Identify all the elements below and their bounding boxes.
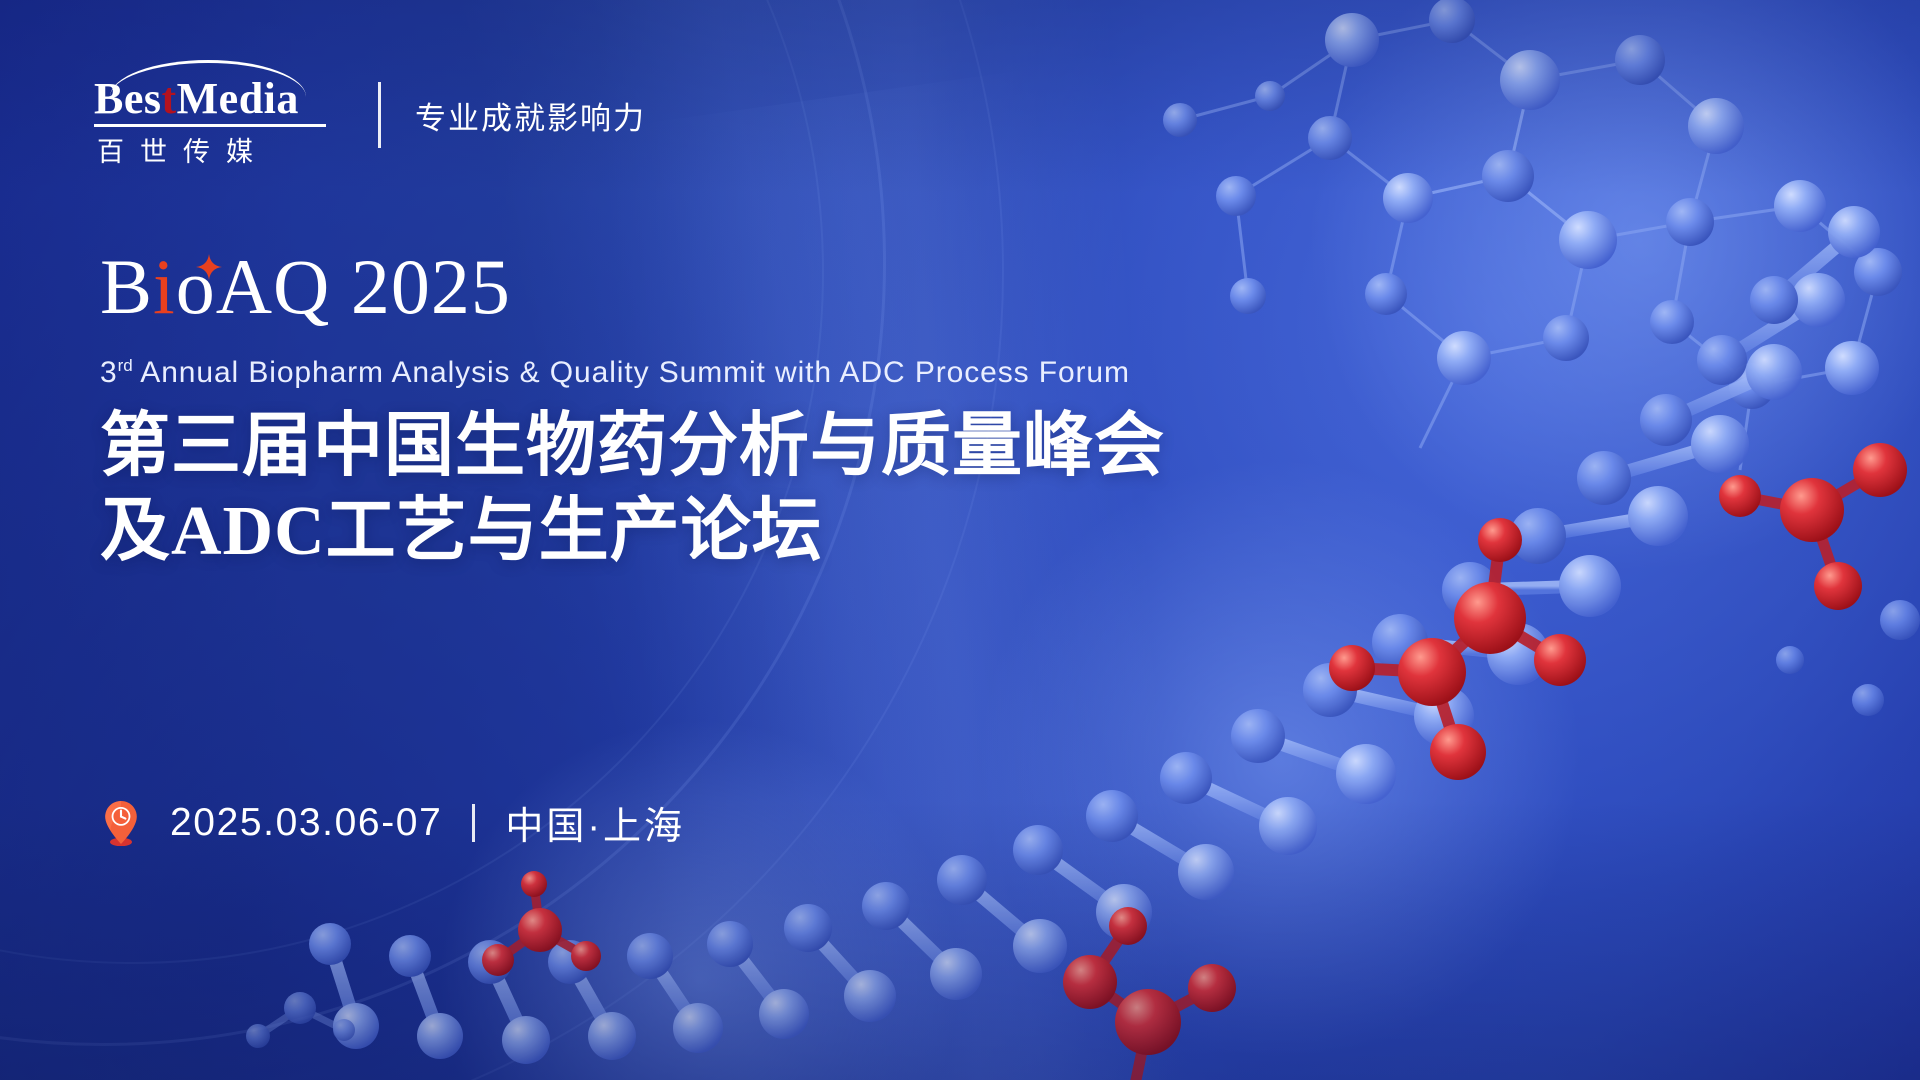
tv-tower-icon: t [162,76,177,122]
event-title-cn: 第三届中国生物药分析与质量峰会 及ADC工艺与生产论坛 [100,404,1165,575]
event-title-cn-line1: 第三届中国生物药分析与质量峰会 [100,404,1165,489]
event-date: 2025.03.06-07 [170,801,442,845]
brand-letter-b: B [100,243,153,330]
subtitle-ordinal-number: 3 [100,356,118,389]
brand-logo: BestMedia 百世传媒 专业成就影响力 [94,62,646,169]
event-location: 中国·上海 [505,795,685,850]
meta-divider [472,804,475,842]
event-meta: 2025.03.06-07 中国·上海 [104,795,685,850]
event-title-cn-line2: 及ADC工艺与生产论坛 [100,489,1165,574]
poster-canvas: BestMedia 百世传媒 专业成就影响力 BioAQ 2025 3rd An… [0,0,1920,1080]
logo-mark: BestMedia 百世传媒 [94,62,326,169]
brand-tagline: 专业成就影响力 [415,93,646,138]
headline-block: BioAQ 2025 3rd Annual Biopharm Analysis … [100,248,1165,575]
logo-text-part1: Bes [94,74,162,123]
vertical-divider [378,82,381,148]
location-pin-clock-icon [104,800,138,846]
brand-letter-i-accent: i [153,243,176,330]
subtitle-ordinal-suffix: rd [118,356,133,375]
logo-text-part2: Media [177,74,299,123]
logo-wordmark-cn: 百世传媒 [94,130,326,169]
brand-rest: oAQ 2025 [176,243,511,330]
event-brand-title: BioAQ 2025 [100,248,511,326]
event-subtitle-en: 3rd Annual Biopharm Analysis & Quality S… [100,356,1165,390]
subtitle-main-text: Annual Biopharm Analysis & Quality Summi… [133,356,1130,389]
logo-underline [94,124,326,127]
logo-wordmark-en: BestMedia [94,62,326,122]
